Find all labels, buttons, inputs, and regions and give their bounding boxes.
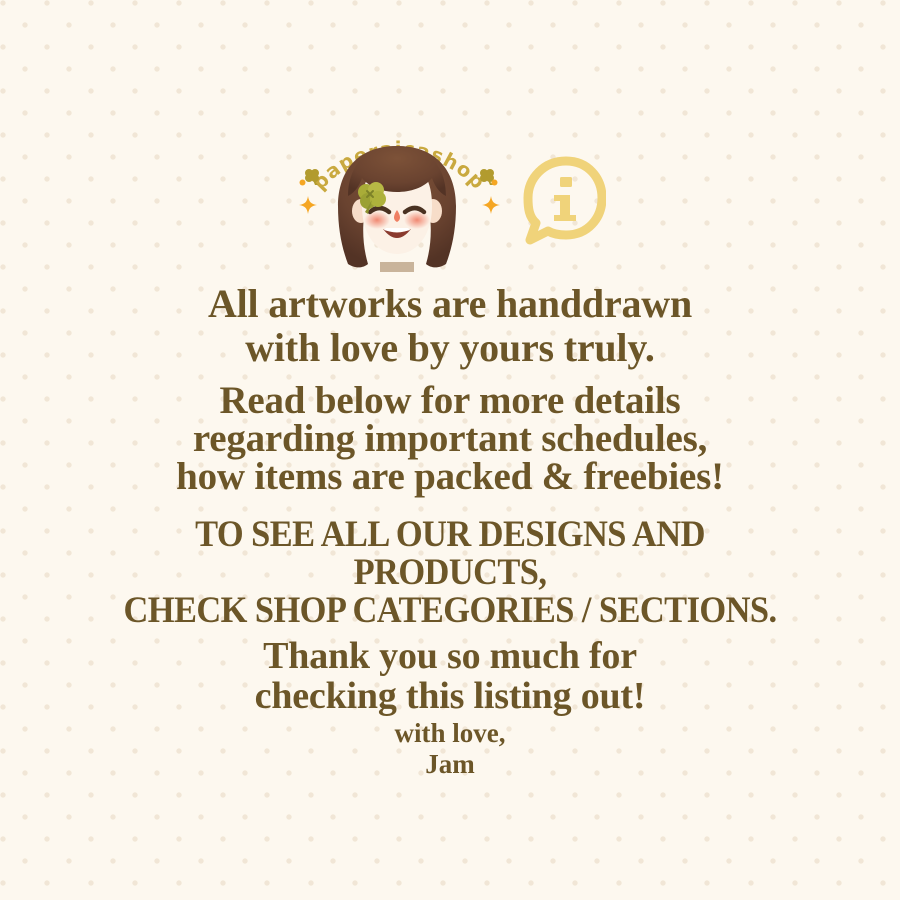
cheek-right	[404, 211, 430, 229]
categories-line-3: CHECK SHOP CATEGORIES / SECTIONS.	[32, 592, 869, 630]
thank-you-line-2: checking this listing out!	[0, 676, 900, 716]
sparkle-icon-left	[297, 194, 319, 216]
thank-you-paragraph: Thank you so much for checking this list…	[0, 636, 900, 716]
thank-you-line-1: Thank you so much for	[0, 636, 900, 676]
signoff-name: Jam	[0, 749, 900, 780]
shop-header: paperaicashop	[0, 118, 900, 278]
sparkle-icon-right	[480, 194, 502, 216]
categories-line-2: PRODUCTS,	[32, 554, 869, 592]
details-line-1: Read below for more details	[0, 382, 900, 420]
intro-line-2: with love by yours truly.	[0, 326, 900, 370]
avatar	[322, 144, 472, 272]
signoff: with love, Jam	[0, 718, 900, 780]
info-icon[interactable]	[520, 155, 606, 247]
details-line-3: how items are packed & freebies!	[0, 458, 900, 496]
categories-callout: TO SEE ALL OUR DESIGNS AND PRODUCTS, CHE…	[32, 516, 869, 630]
collar	[380, 262, 414, 272]
shop-logo: paperaicashop	[294, 118, 504, 278]
details-paragraph: Read below for more details regarding im…	[0, 382, 900, 496]
announcement-card: paperaicashop	[0, 0, 900, 900]
sparkle-dot-icon-left	[298, 178, 307, 187]
intro-line-1: All artworks are handdrawn	[0, 282, 900, 326]
categories-line-1: TO SEE ALL OUR DESIGNS AND	[32, 516, 869, 554]
sparkle-dot-icon-right	[490, 178, 499, 187]
intro-paragraph: All artworks are handdrawn with love by …	[0, 282, 900, 370]
signoff-line-1: with love,	[0, 718, 900, 749]
details-line-2: regarding important schedules,	[0, 420, 900, 458]
